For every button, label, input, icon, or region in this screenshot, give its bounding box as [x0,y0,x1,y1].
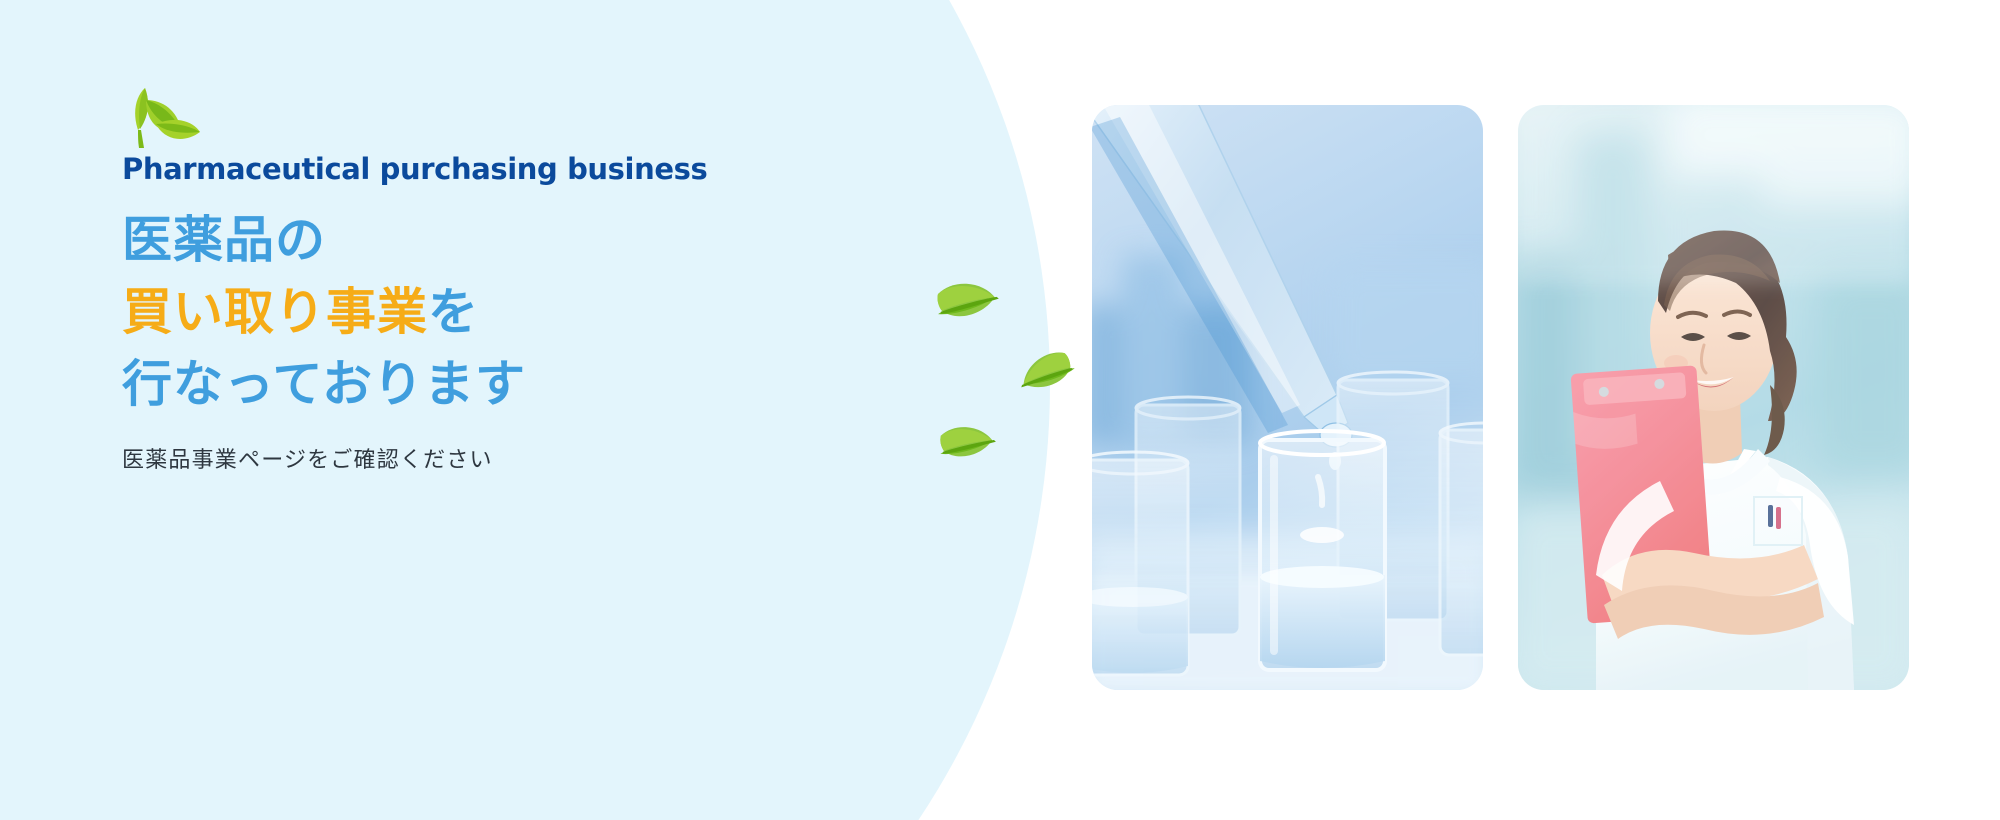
hero-text-block: Pharmaceutical purchasing business 医薬品の … [122,86,882,474]
headline-line-2: 買い取り事業を [122,276,882,348]
hero-headline: 医薬品の 買い取り事業を 行なっております [122,204,882,420]
pharmacist-portrait-photo [1518,105,1909,690]
headline-line-3: 行なっております [122,348,882,420]
floating-leaf-2 [1011,341,1083,407]
hero-banner: Pharmaceutical purchasing business 医薬品の … [0,0,2000,820]
hero-subtext: 医薬品事業ページをご確認ください [122,442,882,474]
hero-eyebrow: Pharmaceutical purchasing business [122,154,882,186]
lab-pipette-photo [1092,105,1483,690]
floating-leaf-3 [937,420,998,468]
headline-line-1: 医薬品の [122,204,882,276]
headline-accent-text: 買い取り事業 [122,283,428,341]
leaf-logo-icon [126,86,200,148]
floating-leaf-1 [933,275,1002,329]
hero-photo-cards [1092,105,1909,690]
headline-line-2-tail: を [428,283,479,341]
